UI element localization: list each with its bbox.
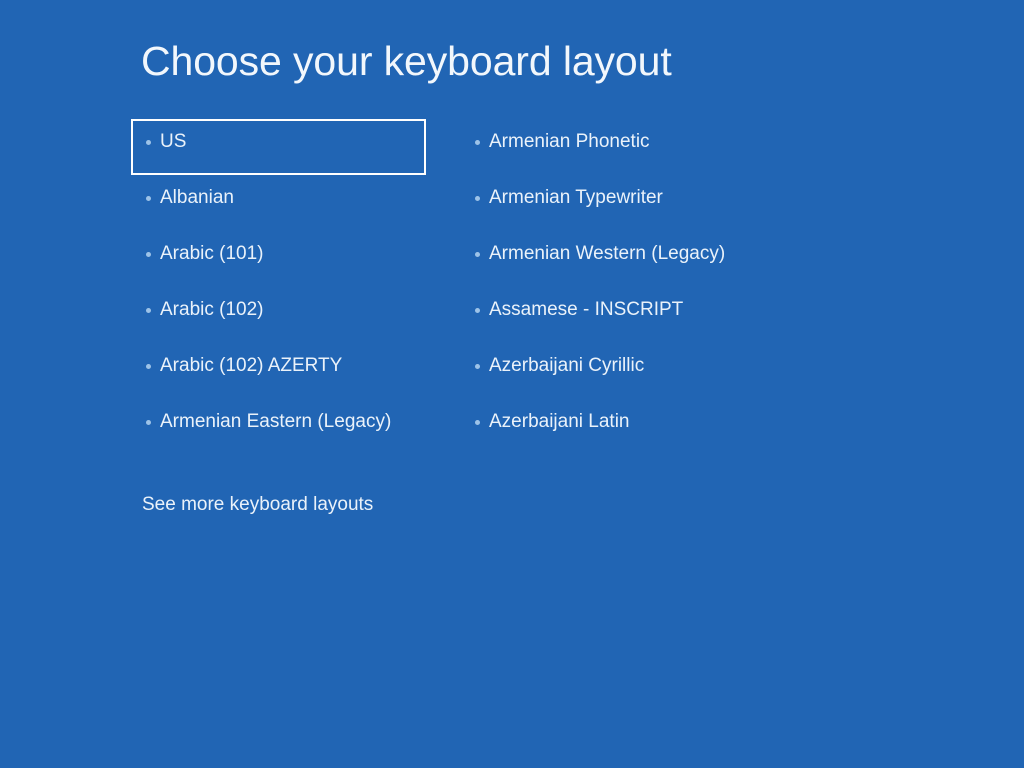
keyboard-layout-column-left: USAlbanianArabic (101)Arabic (102)Arabic…	[131, 119, 431, 455]
keyboard-layout-option-label: Armenian Western (Legacy)	[489, 241, 725, 267]
keyboard-layout-option-label: US	[160, 129, 186, 155]
keyboard-layout-option[interactable]: Arabic (101)	[131, 231, 426, 287]
keyboard-layout-option[interactable]: US	[131, 119, 426, 175]
keyboard-layout-option[interactable]: Armenian Western (Legacy)	[460, 231, 760, 287]
keyboard-layout-option[interactable]: Assamese - INSCRIPT	[460, 287, 760, 343]
keyboard-layout-option-label: Albanian	[160, 185, 234, 211]
keyboard-layout-option-label: Arabic (102) AZERTY	[160, 353, 342, 379]
bullet-icon	[475, 196, 480, 201]
bullet-icon	[146, 252, 151, 257]
keyboard-layout-option[interactable]: Armenian Eastern (Legacy)	[131, 399, 426, 455]
bullet-icon	[146, 364, 151, 369]
bullet-icon	[146, 196, 151, 201]
keyboard-layout-option-label: Armenian Eastern (Legacy)	[160, 409, 391, 435]
keyboard-layout-column-right: Armenian PhoneticArmenian TypewriterArme…	[460, 119, 790, 455]
bullet-icon	[475, 364, 480, 369]
keyboard-layout-option[interactable]: Armenian Typewriter	[460, 175, 760, 231]
page-title: Choose your keyboard layout	[141, 37, 672, 85]
keyboard-layout-option-label: Azerbaijani Latin	[489, 409, 629, 435]
keyboard-layout-option-label: Arabic (102)	[160, 297, 264, 323]
keyboard-layout-screen: Choose your keyboard layout USAlbanianAr…	[0, 0, 1024, 768]
bullet-icon	[146, 140, 151, 145]
keyboard-layout-option[interactable]: Azerbaijani Latin	[460, 399, 760, 455]
bullet-icon	[146, 420, 151, 425]
keyboard-layout-option-label: Arabic (101)	[160, 241, 264, 267]
bullet-icon	[475, 140, 480, 145]
bullet-icon	[475, 420, 480, 425]
keyboard-layout-option[interactable]: Arabic (102) AZERTY	[131, 343, 426, 399]
keyboard-layout-option-label: Armenian Phonetic	[489, 129, 650, 155]
keyboard-layout-option-label: Armenian Typewriter	[489, 185, 663, 211]
keyboard-layout-option-label: Azerbaijani Cyrillic	[489, 353, 644, 379]
bullet-icon	[475, 252, 480, 257]
keyboard-layout-option[interactable]: Albanian	[131, 175, 426, 231]
keyboard-layout-option-label: Assamese - INSCRIPT	[489, 297, 683, 323]
bullet-icon	[146, 308, 151, 313]
bullet-icon	[475, 308, 480, 313]
keyboard-layout-option[interactable]: Armenian Phonetic	[460, 119, 760, 175]
see-more-keyboard-layouts-link[interactable]: See more keyboard layouts	[142, 492, 373, 518]
keyboard-layout-option[interactable]: Arabic (102)	[131, 287, 426, 343]
keyboard-layout-option[interactable]: Azerbaijani Cyrillic	[460, 343, 760, 399]
